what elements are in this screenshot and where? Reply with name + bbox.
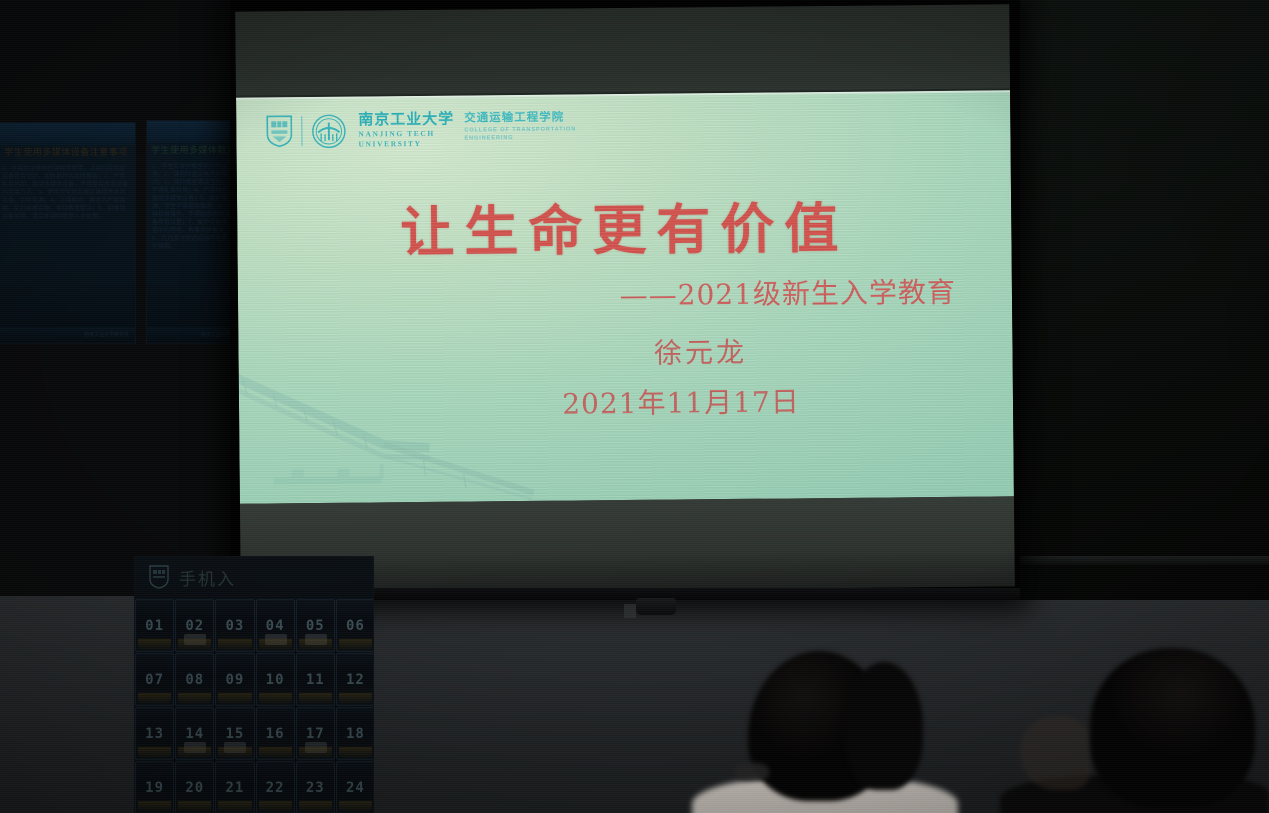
- logo-divider: [301, 116, 302, 146]
- phone-slot-number: 05: [306, 618, 325, 634]
- phone-slot[interactable]: 07: [135, 653, 174, 706]
- shield-crest-icon: [266, 115, 292, 147]
- phone-rack-slot-grid: 0102030405060708091011121314151617181920…: [135, 599, 374, 813]
- classroom-scene: 学生使用多媒体设备注意事项 1、多媒体设备由任课教师使用，上课前应检查设备是否完…: [0, 0, 1269, 813]
- phone-slot-number: 19: [145, 780, 164, 796]
- phone-slot[interactable]: 06: [336, 599, 374, 652]
- phone-slot[interactable]: 09: [215, 653, 254, 706]
- phone-slot-number: 18: [346, 726, 365, 742]
- phone-slot-number: 02: [185, 618, 204, 634]
- phone-slot-lip: [339, 801, 372, 812]
- phone-slot-number: 03: [225, 618, 244, 634]
- phone-slot[interactable]: 18: [336, 707, 374, 760]
- phone-slot-number: 16: [266, 726, 285, 742]
- phone-slot[interactable]: 16: [256, 707, 295, 760]
- poster-body-text: 1、多媒体设备由任课教师使用，上课前应检查设备是否完好，如有损坏应及时报告；2、…: [2, 165, 130, 321]
- audience-person-right-head: [1090, 648, 1255, 808]
- phone-slot[interactable]: 08: [175, 653, 214, 706]
- phone-slot-lip: [138, 801, 171, 812]
- poster-body-text: 1、学生应爱护教室内一切设施；2、课前检查设备完好情况；3、保持教室清洁卫生，不…: [152, 163, 232, 321]
- phone-slot-number: 09: [225, 672, 244, 688]
- screen-roller-weight: [636, 598, 676, 615]
- phone-slot-number: 15: [225, 726, 244, 742]
- university-name-cn: 南京工业大学: [358, 112, 454, 130]
- phone-storage-rack: 手机入 010203040506070809101112131415161718…: [134, 556, 374, 813]
- phone-slot[interactable]: 03: [215, 599, 254, 652]
- phone-slot[interactable]: 23: [296, 761, 335, 813]
- phone-slot-number: 23: [306, 780, 325, 796]
- phone-slot-lip: [218, 801, 251, 812]
- phone-rack-title: 手机入: [179, 565, 236, 590]
- phone-slot-lip: [299, 693, 332, 704]
- phone-slot[interactable]: 01: [135, 599, 174, 652]
- blackboard: [1012, 0, 1269, 600]
- slide-branding-header: 南京工业大学 NANJING TECH UNIVERSITY 交通运输工程学院 …: [266, 110, 576, 149]
- phone-slot[interactable]: 15: [215, 707, 254, 760]
- phone-slot[interactable]: 19: [135, 761, 174, 813]
- phone-slot-lip: [178, 801, 211, 812]
- circular-seal-icon: [311, 113, 346, 148]
- university-name-en-line2: UNIVERSITY: [358, 138, 454, 148]
- audience-person-left-hair: [845, 662, 923, 790]
- phone-slot[interactable]: 17: [296, 707, 335, 760]
- phone-slot-number: 06: [346, 618, 365, 634]
- phone-rack-header: 手机入: [135, 557, 374, 597]
- phone-slot-lip: [138, 693, 171, 704]
- phone-slot-lip: [259, 639, 292, 650]
- phone-slot-number: 12: [346, 672, 365, 688]
- phone-slot[interactable]: 20: [175, 761, 214, 813]
- phone-slot-number: 10: [266, 672, 285, 688]
- phone-slot-lip: [138, 747, 171, 758]
- slide-speaker-name: 徐元龙: [238, 328, 1012, 375]
- screen-fabric: 南京工业大学 NANJING TECH UNIVERSITY 交通运输工程学院 …: [235, 4, 1015, 593]
- phone-slot[interactable]: 10: [256, 653, 295, 706]
- audience-person-left-glasses: [735, 763, 769, 781]
- phone-slot-number: 21: [225, 780, 244, 796]
- phone-slot-lip: [259, 801, 292, 812]
- blackboard-chalk-rail: [1012, 556, 1269, 565]
- projection-screen: 南京工业大学 NANJING TECH UNIVERSITY 交通运输工程学院 …: [230, 0, 1020, 600]
- phone-slot-lip: [259, 693, 292, 704]
- phone-slot[interactable]: 22: [256, 761, 295, 813]
- phone-slot-lip: [259, 747, 292, 758]
- phone-slot[interactable]: 11: [296, 653, 335, 706]
- phone-slot[interactable]: 05: [296, 599, 335, 652]
- phone-slot-lip: [299, 747, 332, 758]
- phone-slot-lip: [339, 639, 372, 650]
- screen-letterbox-top: [235, 4, 1010, 95]
- poster-title: 学生使用多媒体教室守则: [151, 143, 233, 159]
- phone-slot-number: 20: [185, 780, 204, 796]
- screen-side-clip: [624, 604, 636, 618]
- phone-slot[interactable]: 12: [336, 653, 374, 706]
- phone-slot[interactable]: 14: [175, 707, 214, 760]
- poster-header-band: [147, 121, 237, 143]
- phone-slot-number: 14: [185, 726, 204, 742]
- college-name-cn: 交通运输工程学院: [464, 110, 576, 126]
- phone-slot-number: 07: [145, 672, 164, 688]
- poster-header-band: [0, 123, 135, 145]
- phone-slot-lip: [218, 693, 251, 704]
- phone-slot-number: 11: [306, 672, 325, 688]
- presentation-slide: 南京工业大学 NANJING TECH UNIVERSITY 交通运输工程学院 …: [236, 90, 1014, 503]
- phone-slot-number: 04: [266, 618, 285, 634]
- phone-slot[interactable]: 21: [215, 761, 254, 813]
- phone-slot-lip: [218, 639, 251, 650]
- phone-slot-number: 22: [266, 780, 285, 796]
- phone-slot[interactable]: 04: [256, 599, 295, 652]
- phone-slot-lip: [138, 639, 171, 650]
- school-name-block: 南京工业大学 NANJING TECH UNIVERSITY 交通运输工程学院 …: [358, 110, 576, 148]
- phone-slot-lip: [178, 747, 211, 758]
- phone-slot-lip: [218, 747, 251, 758]
- phone-slot-lip: [299, 801, 332, 812]
- poster-footer: 南京工业大学: [147, 327, 237, 343]
- wall-poster-notice-2: 学生使用多媒体教室守则 1、学生应爱护教室内一切设施；2、课前检查设备完好情况；…: [146, 120, 238, 344]
- phone-slot-lip: [339, 747, 372, 758]
- phone-slot-number: 17: [306, 726, 325, 742]
- university-name-group: 南京工业大学 NANJING TECH UNIVERSITY: [358, 112, 454, 149]
- phone-slot[interactable]: 24: [336, 761, 374, 813]
- phone-slot-lip: [178, 639, 211, 650]
- wall-poster-notice-1: 学生使用多媒体设备注意事项 1、多媒体设备由任课教师使用，上课前应检查设备是否完…: [0, 122, 136, 344]
- phone-slot-number: 24: [346, 780, 365, 796]
- phone-slot-lip: [178, 693, 211, 704]
- slide-date: 2021年11月17日: [239, 378, 1013, 425]
- phone-slot[interactable]: 02: [175, 599, 214, 652]
- phone-slot-lip: [339, 693, 372, 704]
- phone-slot-lip: [299, 639, 332, 650]
- college-name-group: 交通运输工程学院 COLLEGE OF TRANSPORTATION ENGIN…: [464, 110, 576, 142]
- shield-badge-icon: [149, 565, 169, 589]
- phone-slot-number: 13: [145, 726, 164, 742]
- college-name-en-line2: ENGINEERING: [464, 133, 576, 142]
- audience-person-right-hand: [1020, 716, 1092, 790]
- phone-slot-number: 08: [185, 672, 204, 688]
- poster-title: 学生使用多媒体设备注意事项: [1, 145, 131, 161]
- phone-slot-number: 01: [145, 618, 164, 634]
- poster-footer: 南京工业大学教务处: [0, 327, 135, 343]
- slide-subtitle: ——2021级新生入学教育: [619, 271, 956, 314]
- slide-title: 让生命更有价值: [237, 182, 1012, 268]
- phone-slot[interactable]: 13: [135, 707, 174, 760]
